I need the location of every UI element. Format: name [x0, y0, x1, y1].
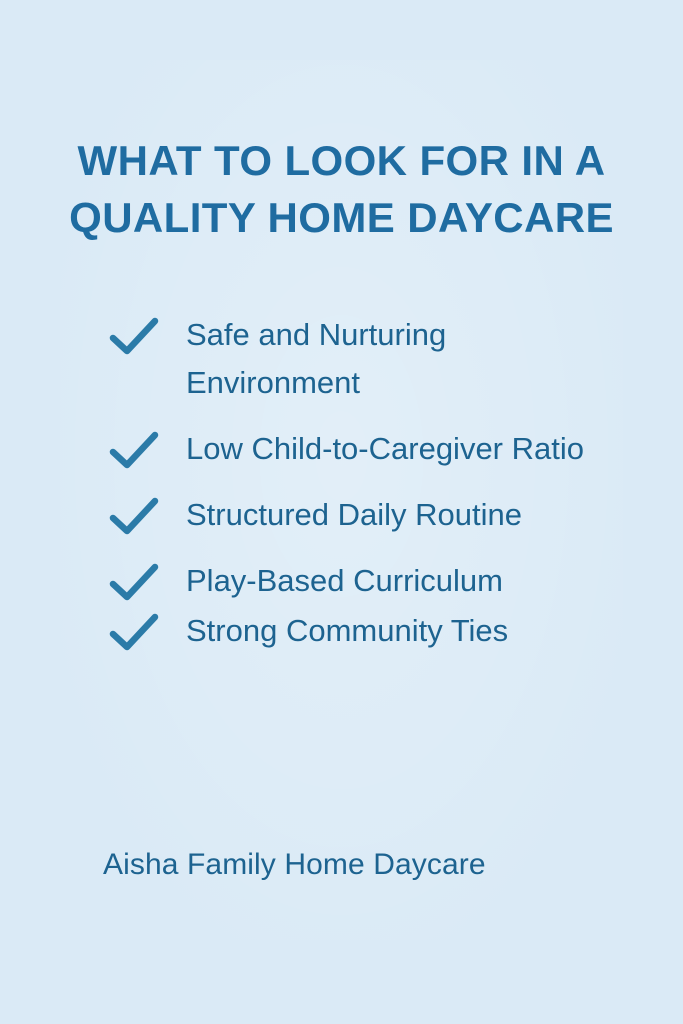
list-item-label: Low Child-to-Caregiver Ratio [186, 425, 606, 473]
list-item: Safe and Nurturing Environment [0, 311, 683, 407]
check-icon [108, 311, 160, 359]
check-icon [108, 607, 160, 655]
list-item: Strong Community Ties [0, 607, 683, 655]
check-icon [108, 425, 160, 473]
list-item-label: Strong Community Ties [186, 607, 606, 655]
list-item-label: Structured Daily Routine [186, 491, 606, 539]
list-item: Structured Daily Routine [0, 491, 683, 539]
check-icon [108, 491, 160, 539]
page-title: WHAT TO LOOK FOR IN A QUALITY HOME DAYCA… [62, 132, 621, 246]
list-item: Low Child-to-Caregiver Ratio [0, 425, 683, 473]
list-item: Play-Based Curriculum [0, 557, 683, 605]
poster-canvas: WHAT TO LOOK FOR IN A QUALITY HOME DAYCA… [0, 0, 683, 1024]
list-item-label: Play-Based Curriculum [186, 557, 606, 605]
list-item-label: Safe and Nurturing Environment [186, 311, 606, 407]
checklist: Safe and Nurturing Environment Low Child… [0, 311, 683, 657]
check-icon [108, 557, 160, 605]
brand-name: Aisha Family Home Daycare [103, 845, 486, 885]
